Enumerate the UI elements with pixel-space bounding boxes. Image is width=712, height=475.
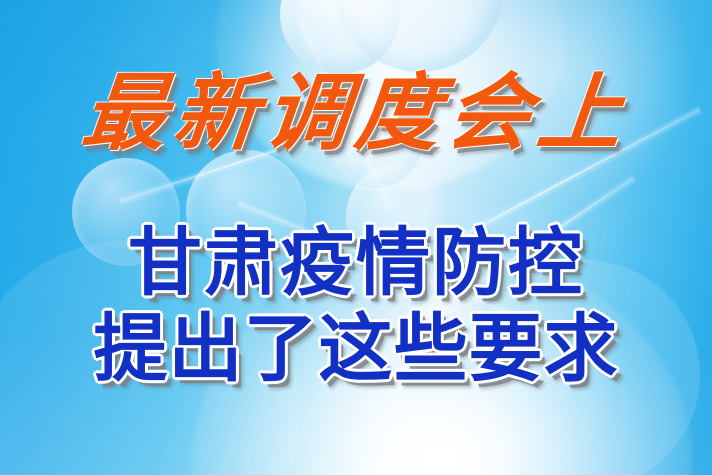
text-layer: 最新调度会上 甘肃疫情防控 提出了这些要求 (0, 0, 712, 475)
subheadline-line-2: 提出了这些要求 (0, 308, 712, 390)
poster-canvas: 最新调度会上 甘肃疫情防控 提出了这些要求 (0, 0, 712, 475)
headline-orange: 最新调度会上 (0, 62, 712, 164)
subheadline-line-1: 甘肃疫情防控 (0, 222, 712, 304)
